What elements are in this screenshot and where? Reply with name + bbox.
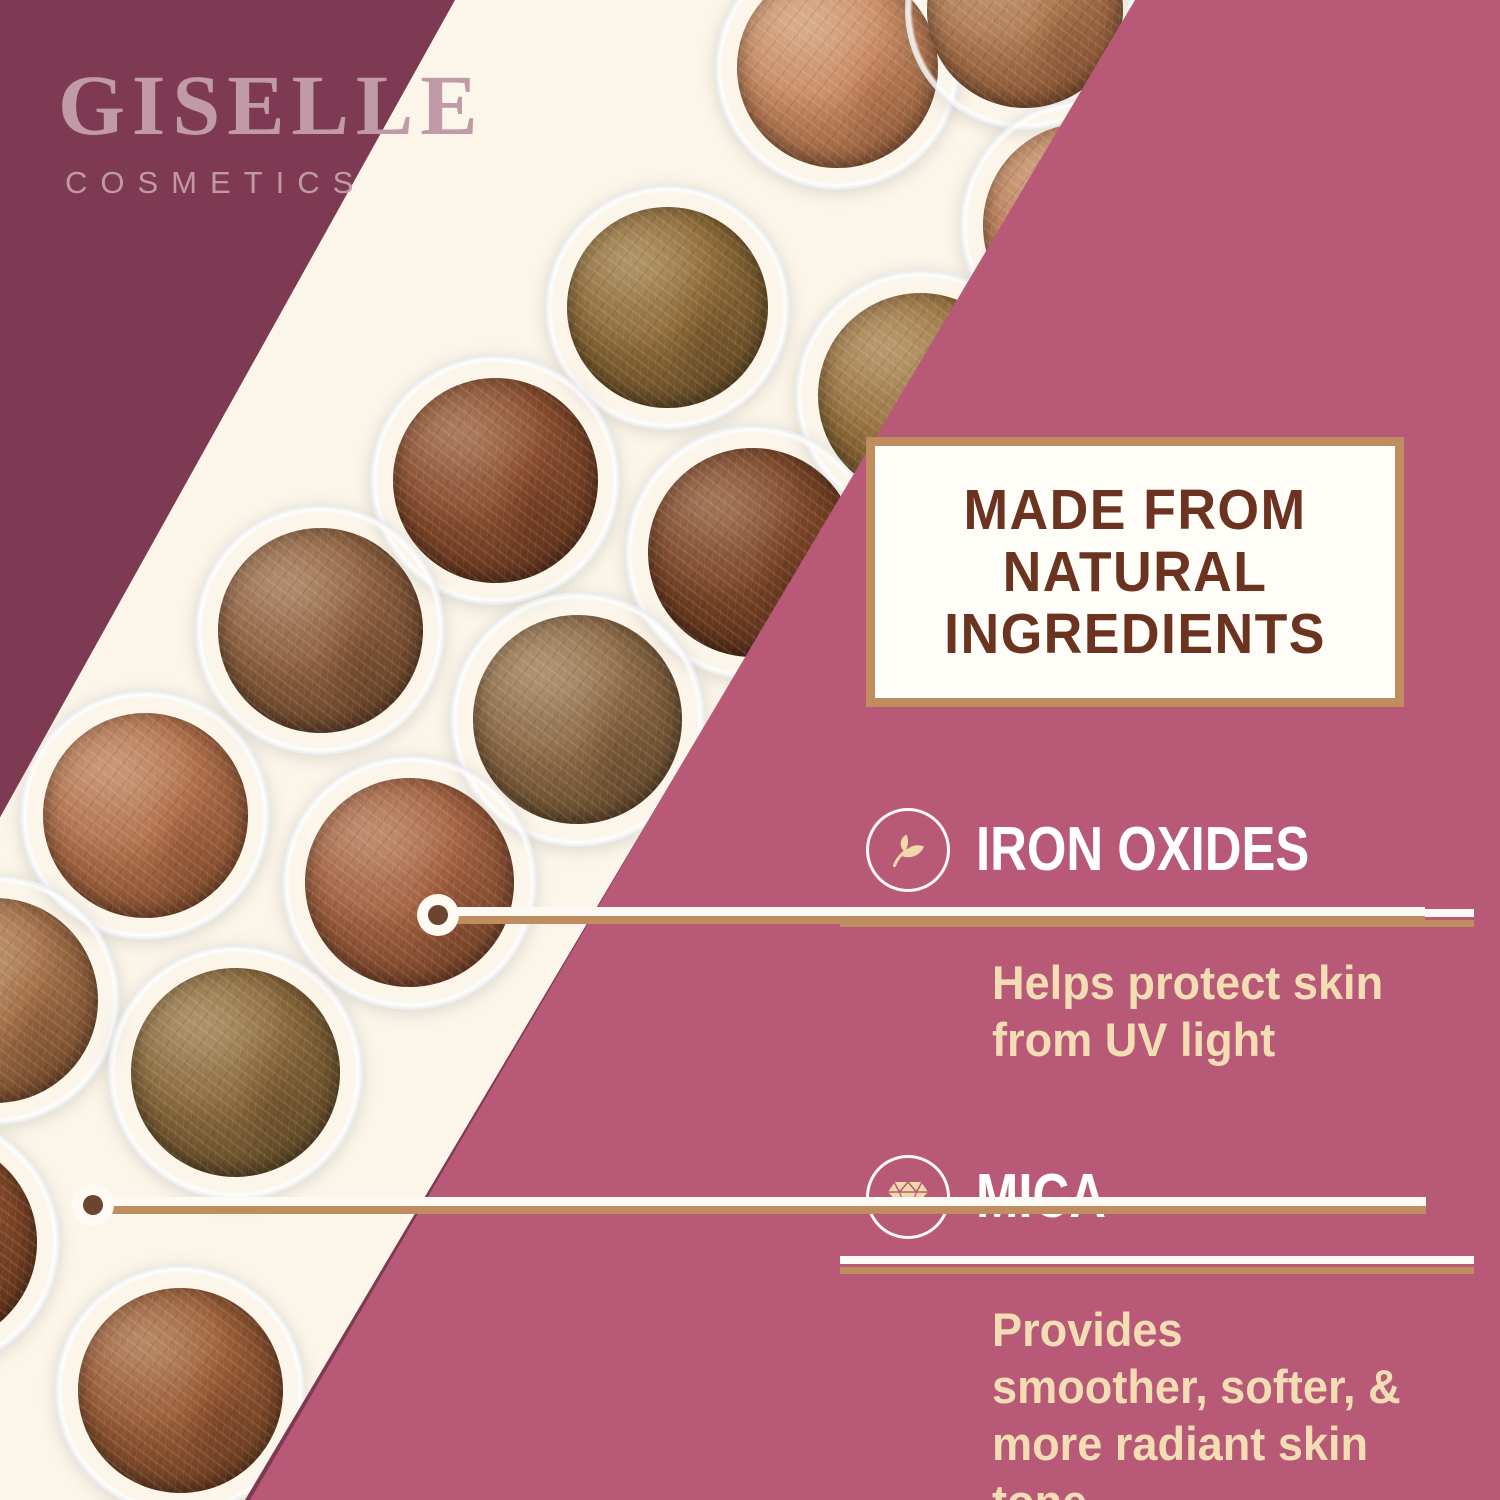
leaf-sprout-icon [866,808,950,892]
callout-connector [70,1188,1426,1222]
brand-name: GISELLE [58,62,485,148]
marketing-graphic: GISELLE COSMETICS MADE FROM NATURAL INGR… [0,0,1500,1500]
ingredient-header: IRON OXIDES [866,808,1426,892]
powder-pan [218,528,423,733]
connector-dot-hole [83,1195,103,1215]
connector-gold-rail [432,916,1425,924]
powder-pan [43,713,248,918]
powder-pan [0,1138,37,1347]
powder-pan [393,378,598,583]
connector-gold-rail [87,1206,1426,1214]
powder-pan [78,1288,283,1493]
powder-pan [0,898,98,1103]
headline-line-3: INGREDIENTS [944,603,1326,665]
ingredient-description: Helps protect skin from UV light [992,954,1409,1069]
ingredient-divider [840,1256,1474,1273]
product-jar [108,945,363,1200]
ingredient-description: Provides smoother, softer, & more radian… [992,1301,1409,1500]
ingredient-item-iron-oxides: IRON OXIDES Helps protect skin from UV l… [866,808,1426,1069]
connector-white-rail [432,907,1425,916]
ingredient-title: IRON OXIDES [976,819,1309,881]
connector-dot-marker [415,898,457,932]
powder-pan [305,778,514,987]
brand-logo: GISELLE COSMETICS [58,62,485,201]
headline-inner: MADE FROM NATURAL INGREDIENTS [875,446,1395,698]
callout-connector [415,898,1425,932]
connector-dot-hole [428,905,448,925]
brand-tagline: COSMETICS [65,165,485,201]
headline-line-2: NATURAL [944,541,1326,603]
headline-box: MADE FROM NATURAL INGREDIENTS [866,437,1404,707]
divider-gold-rule [840,1267,1474,1274]
headline-text: MADE FROM NATURAL INGREDIENTS [944,479,1326,665]
divider-white-rule [840,1256,1474,1264]
connector-white-rail [87,1197,1426,1206]
headline-line-1: MADE FROM [944,479,1326,541]
powder-pan [131,968,340,1177]
connector-dot-marker [70,1188,112,1222]
product-jar [0,1115,60,1370]
